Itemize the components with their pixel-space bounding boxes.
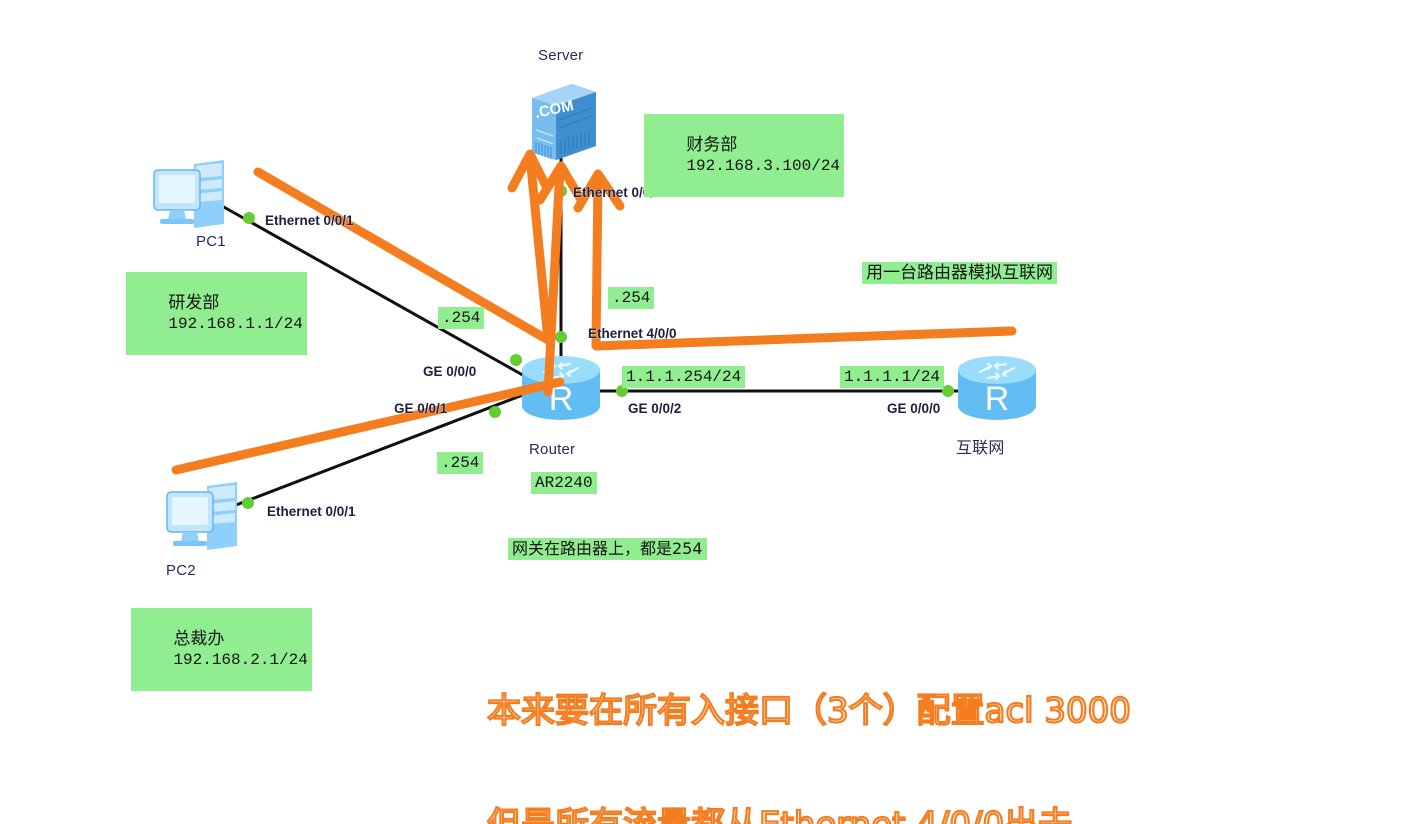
tag-rd: 研发部 192.168.1.1/24	[126, 272, 307, 355]
network-topology-diagram: .COM	[0, 0, 1424, 824]
iface-router-ge001: GE 0/0/1	[394, 401, 447, 416]
pc2-label: PC2	[166, 562, 196, 579]
tag-ceo-office-ip: 192.168.2.1/24	[173, 651, 307, 669]
tag-wan-router-ip: 1.1.1.254/24	[622, 366, 745, 388]
orange-arrow-router-up	[548, 168, 560, 392]
tag-gateway-server: .254	[608, 287, 654, 309]
pc1-label: PC1	[196, 233, 226, 250]
tag-finance: 财务部 192.168.3.100/24	[644, 114, 844, 197]
tag-gateway-pc1: .254	[438, 307, 484, 329]
tag-ceo-office: 总裁办 192.168.2.1/24	[131, 608, 312, 691]
tag-rd-ip: 192.168.1.1/24	[168, 315, 302, 333]
iface-router-ge000: GE 0/0/0	[423, 364, 476, 379]
tag-internet-note: 用一台路由器模拟互联网	[862, 262, 1057, 284]
acl-annotation-text: 本来要在所有入接口（3个）配置acl 3000 但是所有流量都从Ethernet…	[487, 616, 1143, 824]
iface-pc2-ethernet: Ethernet 0/0/1	[267, 504, 356, 519]
iface-pc1-ethernet: Ethernet 0/0/1	[265, 213, 354, 228]
internet-router-label: 互联网	[956, 434, 1005, 458]
tag-ceo-office-title: 总裁办	[173, 629, 224, 649]
iface-internet-ge000: GE 0/0/0	[887, 401, 940, 416]
orange-arrow-pc2	[176, 382, 560, 470]
tag-gateway-pc2: .254	[437, 452, 483, 474]
tag-rd-title: 研发部	[168, 293, 219, 313]
tag-finance-title: 财务部	[686, 135, 737, 155]
tag-router-model: AR2240	[531, 472, 597, 494]
router-label: Router	[529, 441, 575, 458]
tag-gateway-note: 网关在路由器上，都是254	[508, 538, 707, 560]
acl-annotation-line-2: 但是所有流量都从Ethernet 4/0/0出去	[487, 806, 1143, 824]
tag-finance-ip: 192.168.3.100/24	[686, 157, 840, 175]
tag-wan-internet-ip: 1.1.1.1/24	[840, 366, 944, 388]
acl-annotation-line-1: 本来要在所有入接口（3个）配置acl 3000	[487, 692, 1143, 730]
iface-router-eth400: Ethernet 4/0/0	[588, 326, 677, 341]
server-label: Server	[538, 47, 583, 64]
iface-router-ge002: GE 0/0/2	[628, 401, 681, 416]
